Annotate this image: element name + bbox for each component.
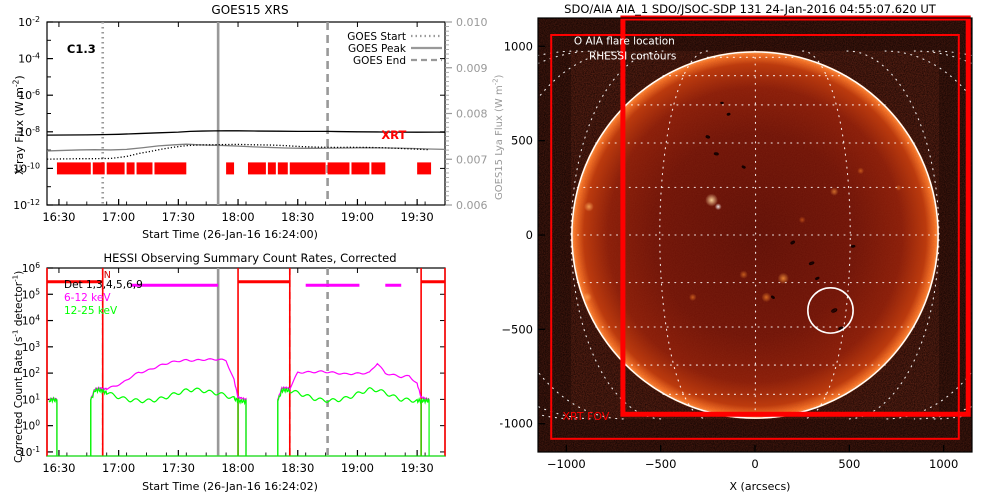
goes-ytick-label: 10-12 bbox=[13, 198, 40, 212]
active-region bbox=[761, 292, 771, 302]
goes-right-ytick-label: 0.009 bbox=[456, 62, 488, 75]
sun-ytick-label: 0 bbox=[526, 228, 533, 242]
active-region bbox=[584, 202, 594, 212]
goes-ylabel-left-text: X-ray Flux (W m bbox=[13, 87, 26, 175]
goes-ytick-label: 10-4 bbox=[18, 52, 40, 66]
goes-xtick-label: 18:30 bbox=[281, 210, 314, 224]
xrt-coverage-bar bbox=[351, 162, 369, 174]
goes-ylabel-left-sup: -2 bbox=[11, 80, 20, 87]
rhessi-contours-annotation: RHESSI contours bbox=[589, 51, 676, 63]
rhessi-contour-core bbox=[721, 103, 722, 104]
sun-ytick-label: 500 bbox=[511, 134, 533, 148]
hessi-ylabel-close2: ) bbox=[13, 271, 25, 275]
sun-ytick-label: 1000 bbox=[504, 39, 533, 53]
goes-annotation-xrt: XRT bbox=[381, 128, 406, 142]
xrt-coverage-bar bbox=[248, 162, 266, 174]
goes-right-ytick-label: 0.008 bbox=[456, 108, 488, 121]
sun-image-canvas: −1000−5000500100010005000−500−1000O AIA … bbox=[500, 0, 1000, 500]
sun-xtick-label: 1000 bbox=[929, 457, 958, 471]
sdo-aia-image-panel: SDO/AIA AIA_1 SDO/JSOC-SDP 131 24-Jan-20… bbox=[500, 0, 1000, 500]
goes-right-ytick-label: 0.010 bbox=[456, 16, 488, 29]
goes-xlabel: Start Time (26-Jan-16 16:24:00) bbox=[20, 228, 440, 241]
goes-xtick-label: 19:00 bbox=[341, 210, 374, 224]
figure-root: GOES15 XRS X-ray Flux (W m-2) GOES15 Lya… bbox=[0, 0, 1000, 500]
hessi-plot-canvas: 10610510410310210110010-116:3017:0017:30… bbox=[0, 248, 500, 500]
hessi-xtick-label: 19:00 bbox=[341, 461, 374, 475]
xrt-coverage-bar bbox=[371, 162, 385, 174]
active-region bbox=[740, 270, 748, 278]
xrt-coverage-bar bbox=[278, 162, 288, 174]
xrt-coverage-bar bbox=[154, 162, 186, 174]
hessi-night-marker: N bbox=[104, 270, 111, 281]
xrt-coverage-bar bbox=[417, 162, 431, 174]
hessi-xlabel: Start Time (26-Jan-16 16:24:02) bbox=[20, 480, 440, 493]
sun-xtick-label: 500 bbox=[838, 457, 860, 471]
xrt-coverage-bar bbox=[57, 162, 91, 174]
hessi-ylabel-sup2: -1 bbox=[11, 275, 20, 282]
active-region bbox=[689, 293, 697, 301]
xrt-coverage-bar bbox=[127, 162, 135, 174]
active-region bbox=[830, 187, 838, 195]
active-region bbox=[799, 217, 806, 224]
hessi-xtick-label: 16:30 bbox=[42, 461, 75, 475]
sun-xlabel: X (arcsecs) bbox=[540, 480, 980, 493]
hessi-xtick-label: 18:30 bbox=[281, 461, 314, 475]
active-region bbox=[715, 203, 722, 210]
goes-ylabel-left-close: ) bbox=[13, 75, 26, 79]
hessi-legend-2: 12-25 keV bbox=[64, 305, 118, 317]
goes-xtick-label: 16:30 bbox=[42, 210, 75, 224]
xrt-coverage-bar bbox=[268, 162, 276, 174]
hessi-panel-title: HESSI Observing Summary Count Rates, Cor… bbox=[0, 251, 500, 265]
goes-xtick-label: 18:00 bbox=[221, 210, 254, 224]
xrt-coverage-bar bbox=[107, 162, 125, 174]
goes-annotation-c1-3: C1.3 bbox=[67, 42, 96, 56]
hessi-xtick-label: 18:00 bbox=[221, 461, 254, 475]
goes-xtick-label: 17:30 bbox=[162, 210, 195, 224]
hessi-ylabel-text: Corrected Count Rate (s bbox=[13, 337, 25, 463]
active-region bbox=[857, 167, 864, 174]
goes-right-ytick-label: 0.006 bbox=[456, 199, 488, 212]
xrt-coverage-bar bbox=[328, 162, 350, 174]
xrt-coverage-bar bbox=[93, 162, 105, 174]
goes-panel-title: GOES15 XRS bbox=[0, 3, 500, 17]
goes-legend-label-2: GOES End bbox=[353, 55, 406, 67]
xrt-coverage-bar bbox=[290, 162, 326, 174]
goes-ylabel-right-sup: -2 bbox=[492, 78, 500, 85]
hessi-xtick-label: 17:00 bbox=[102, 461, 135, 475]
goes-xtick-label: 19:30 bbox=[401, 210, 434, 224]
sun-panel-title: SDO/AIA AIA_1 SDO/JSOC-SDP 131 24-Jan-20… bbox=[500, 2, 1000, 16]
goes-xtick-label: 17:00 bbox=[102, 210, 135, 224]
goes-legend-label-0: GOES Start bbox=[347, 31, 406, 43]
sun-xtick-label: −500 bbox=[645, 457, 677, 471]
goes-right-ytick-label: 0.007 bbox=[456, 153, 488, 166]
xrt-coverage-bar bbox=[137, 162, 153, 174]
goes-legend-label-1: GOES Peak bbox=[348, 43, 407, 55]
hessi-panel: HESSI Observing Summary Count Rates, Cor… bbox=[0, 248, 500, 500]
goes-ylabel-left: X-ray Flux (W m-2) bbox=[13, 75, 26, 175]
hessi-ylabel-close: detector bbox=[13, 282, 25, 330]
xrt-fov-label: XRT FOV bbox=[563, 410, 610, 423]
sun-xtick-label: 0 bbox=[751, 457, 758, 471]
sun-ytick-label: −1000 bbox=[500, 417, 533, 431]
goes-plot-canvas: 10-210-410-610-810-1010-120.0100.0090.00… bbox=[0, 0, 500, 248]
hessi-ylabel-sup: -1 bbox=[11, 330, 20, 337]
goes-ytick-label: 10-2 bbox=[18, 15, 40, 29]
sun-xtick-label: −1000 bbox=[547, 457, 586, 471]
xrt-coverage-bar bbox=[226, 162, 234, 174]
hessi-xtick-label: 19:30 bbox=[401, 461, 434, 475]
aia-flare-annotation: O AIA flare location bbox=[574, 35, 675, 47]
hessi-xtick-label: 17:30 bbox=[162, 461, 195, 475]
hessi-legend-1: 6-12 keV bbox=[64, 292, 111, 304]
hessi-ylabel: Corrected Count Rate (s-1 detector-1) bbox=[13, 271, 25, 463]
sun-ytick-label: −500 bbox=[501, 322, 533, 336]
goes-xrs-panel: GOES15 XRS X-ray Flux (W m-2) GOES15 Lya… bbox=[0, 0, 500, 248]
